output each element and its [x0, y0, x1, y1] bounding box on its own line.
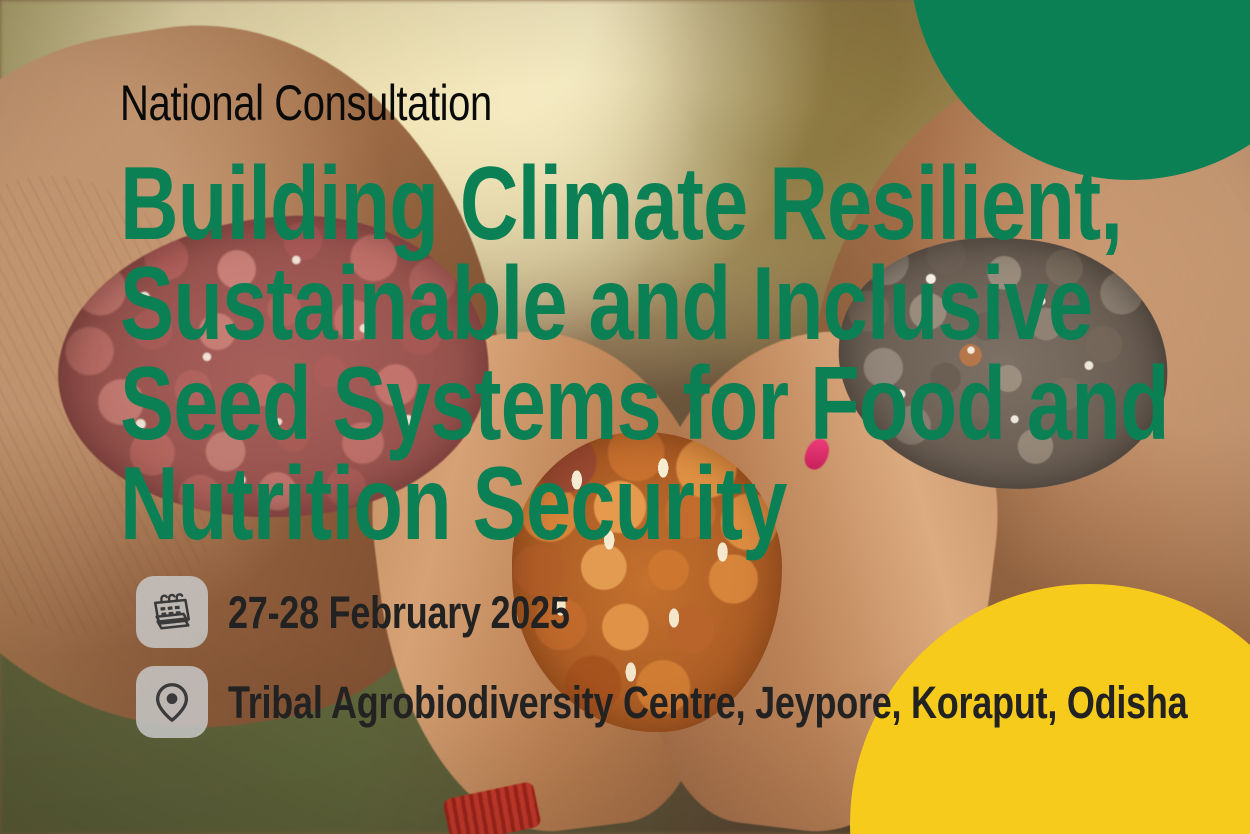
event-details: 27-28 February 2025 Tribal Agrobiodivers… [136, 576, 1250, 756]
location-pin-icon [136, 666, 208, 738]
event-date-row: 27-28 February 2025 [136, 576, 1250, 648]
headline-line-2: Sustainable and Inclusive [120, 254, 994, 354]
event-poster: National Consultation Building Climate R… [0, 0, 1250, 834]
calendar-icon [136, 576, 208, 648]
event-date-text: 27-28 February 2025 [228, 590, 570, 635]
event-kicker: National Consultation [120, 78, 492, 128]
headline-line-4: Nutrition Security [120, 454, 994, 554]
event-venue-row: Tribal Agrobiodiversity Centre, Jeypore,… [136, 666, 1250, 738]
event-venue-text: Tribal Agrobiodiversity Centre, Jeypore,… [228, 680, 1187, 725]
headline-line-1: Building Climate Resilient, [120, 154, 994, 254]
poster-content: National Consultation Building Climate R… [0, 0, 1250, 834]
page-title: Building Climate Resilient, Sustainable … [120, 154, 1240, 554]
headline-line-3: Seed Systems for Food and [120, 354, 994, 454]
